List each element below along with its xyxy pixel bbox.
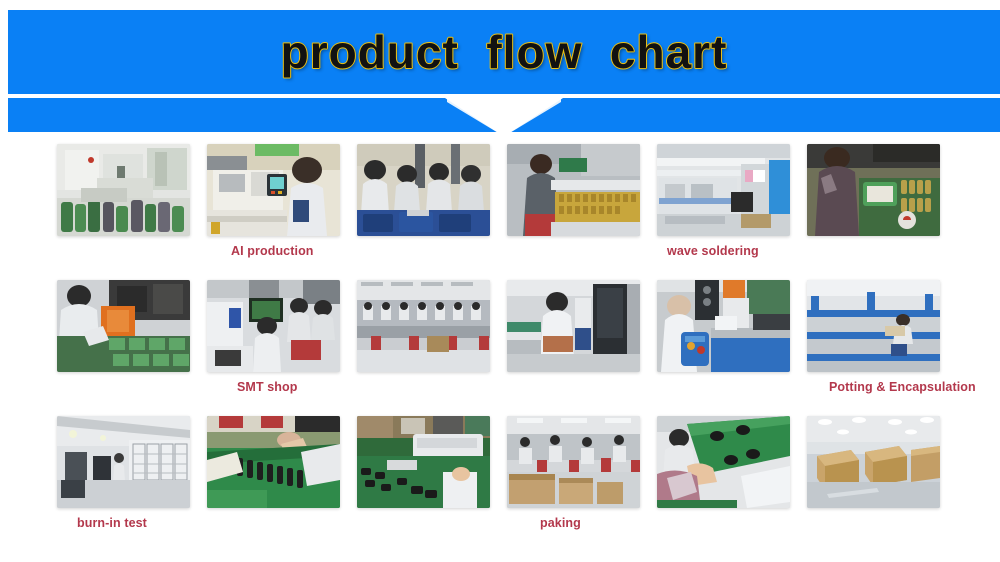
flow-photo-r3c1[interactable] <box>57 416 190 508</box>
photo-automated-production <box>57 144 190 236</box>
flow-photo-r1c1[interactable] <box>57 144 190 236</box>
photo-ai-insertion-machine <box>207 144 340 236</box>
photo-warehouse-cartons <box>807 416 940 508</box>
chevron-down-notch-icon <box>445 94 563 134</box>
flow-photo-r2c3[interactable] <box>357 280 490 372</box>
photo-assembly-line-workers <box>357 144 490 236</box>
photo-smt-loading <box>57 280 190 372</box>
flow-photo-r1c6[interactable] <box>807 144 940 236</box>
photo-pcb-handling <box>807 144 940 236</box>
page-title: product flow chart <box>8 10 1000 94</box>
photo-smt-shop-floor <box>357 280 490 372</box>
photo-green-conveyor-hands <box>207 416 340 508</box>
flow-photo-r1c2[interactable] <box>207 144 340 236</box>
flow-row-1: AI production wave soldering <box>0 132 1000 268</box>
photo-wave-soldering-machine <box>657 144 790 236</box>
caption-potting-encapsulation: Potting & Encapsulation <box>829 380 976 394</box>
flow-photo-r3c5[interactable] <box>657 416 790 508</box>
photo-potting-machine-operator <box>657 280 790 372</box>
header-banner: product flow chart <box>8 10 1000 122</box>
caption-wave-soldering: wave soldering <box>667 244 759 258</box>
photo-technician-test-rack <box>507 280 640 372</box>
photo-bench-black-parts <box>357 416 490 508</box>
flow-photo-r2c6[interactable] <box>807 280 940 372</box>
flow-row-3: burn-in test paking <box>0 404 1000 540</box>
flow-photo-r3c3[interactable] <box>357 416 490 508</box>
flow-photo-r2c2[interactable] <box>207 280 340 372</box>
photo-conveyor-inspection <box>507 144 640 236</box>
caption-paking: paking <box>540 516 581 530</box>
flow-photo-r2c1[interactable] <box>57 280 190 372</box>
photo-packing-green-line <box>657 416 790 508</box>
photo-packing-cartons <box>507 416 640 508</box>
photo-burn-in-room <box>57 416 190 508</box>
flow-photo-r3c6[interactable] <box>807 416 940 508</box>
flow-row-2: SMT shop Potting & Encapsulation <box>0 268 1000 404</box>
flow-photo-r1c3[interactable] <box>357 144 490 236</box>
caption-burn-in-test: burn-in test <box>77 516 147 530</box>
flow-photo-r2c5[interactable] <box>657 280 790 372</box>
flow-photo-r1c5[interactable] <box>657 144 790 236</box>
flow-photo-r1c4[interactable] <box>507 144 640 236</box>
flow-photo-r2c4[interactable] <box>507 280 640 372</box>
flow-photo-r3c4[interactable] <box>507 416 640 508</box>
flow-photo-r3c2[interactable] <box>207 416 340 508</box>
product-flow-grid: AI production wave soldering <box>0 132 1000 562</box>
photo-smt-pick-place <box>207 280 340 372</box>
caption-ai-production: AI production <box>231 244 314 258</box>
photo-encapsulation-racks <box>807 280 940 372</box>
caption-smt-shop: SMT shop <box>237 380 298 394</box>
